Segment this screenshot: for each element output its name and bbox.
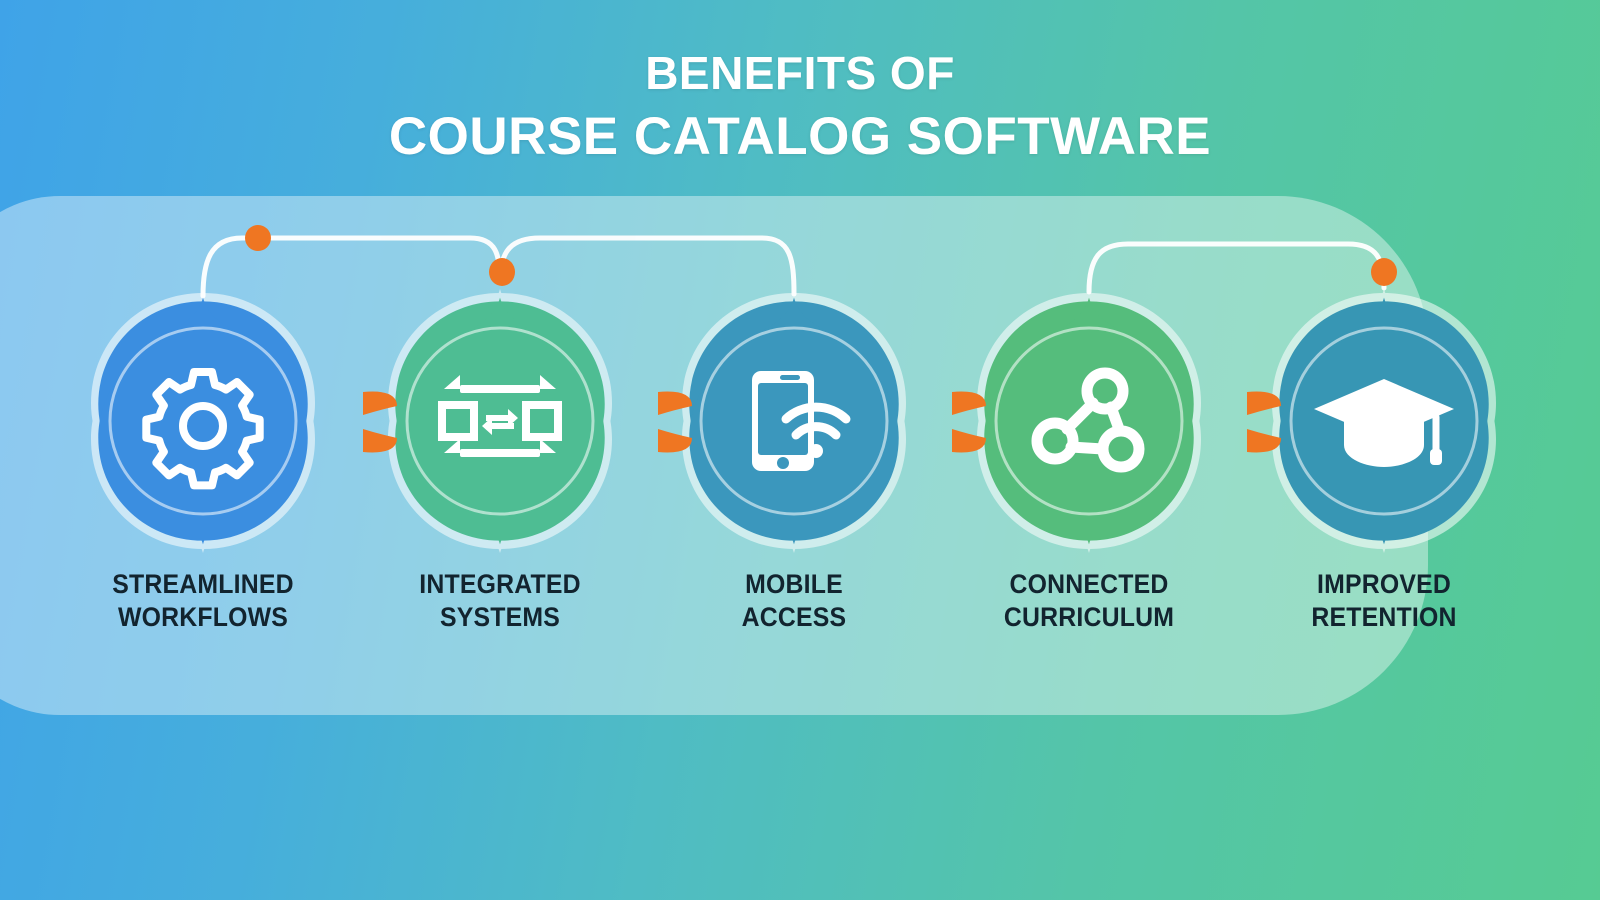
dot-1 xyxy=(245,225,271,251)
benefits-flow-diagram: STREAMLINED WORKFLOWS INTEGRATED SYSTEMS… xyxy=(0,0,1600,900)
connector-dots xyxy=(245,225,1397,286)
node-cluster-4[interactable] xyxy=(977,289,1201,553)
node-cluster-1[interactable] xyxy=(91,289,315,553)
connector-lines xyxy=(203,238,1384,296)
node-label-streamlined-workflows: STREAMLINED WORKFLOWS xyxy=(83,568,322,634)
connector-2-3 xyxy=(500,238,794,294)
dot-3 xyxy=(1371,258,1397,286)
dot-2 xyxy=(489,258,515,286)
node-label-connected-curriculum: CONNECTED CURRICULUM xyxy=(969,568,1208,634)
node-label-mobile-access: MOBILE ACCESS xyxy=(674,568,913,634)
node-cluster-2[interactable] xyxy=(388,289,612,553)
node-cluster-3[interactable] xyxy=(682,289,906,553)
flow-svg xyxy=(0,0,1600,900)
connector-1-2 xyxy=(203,238,500,296)
node-cluster-5[interactable] xyxy=(1272,289,1496,553)
connector-4-5 xyxy=(1089,244,1384,292)
node-label-improved-retention: IMPROVED RETENTION xyxy=(1264,568,1503,634)
node-label-integrated-systems: INTEGRATED SYSTEMS xyxy=(380,568,619,634)
